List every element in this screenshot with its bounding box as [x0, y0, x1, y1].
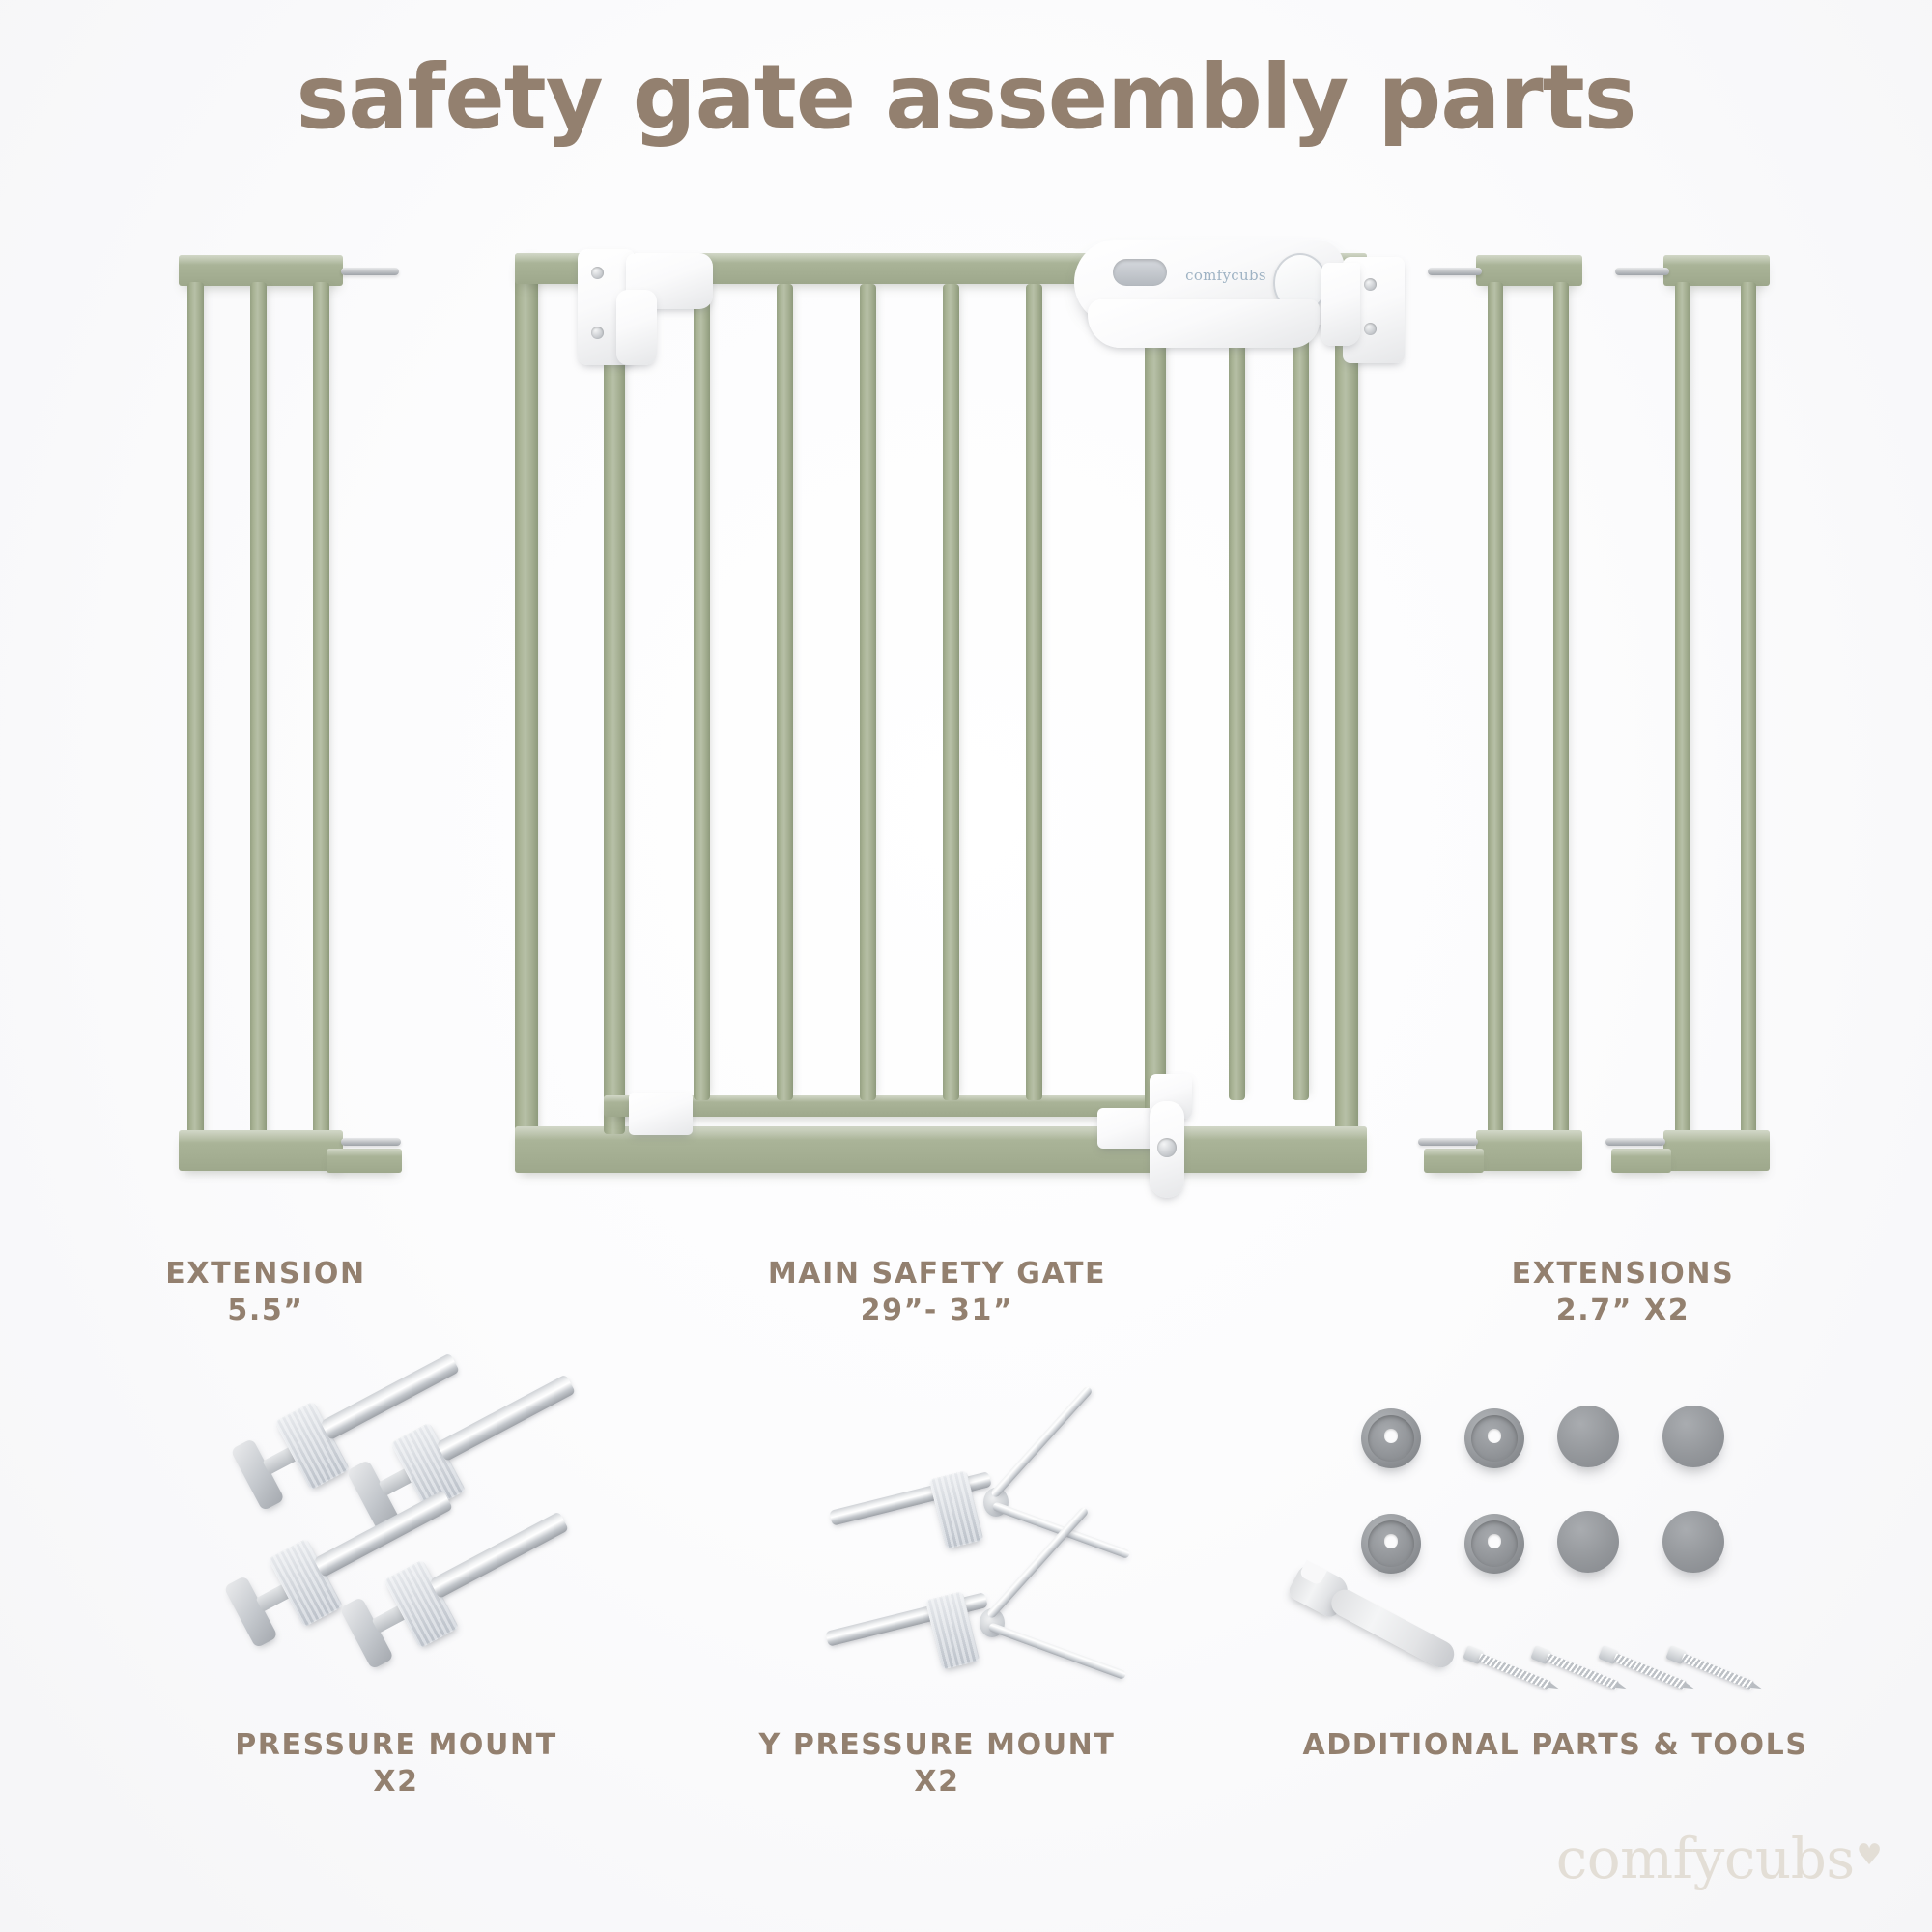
main-gate-latch-lower-lip: [1088, 299, 1320, 348]
brand-logo: comfycubs♥: [1556, 1826, 1882, 1891]
extension-right-1-bottom-rail: [1476, 1130, 1582, 1171]
heart-icon: ♥: [1857, 1838, 1882, 1872]
screw-tip: [1683, 1682, 1694, 1691]
extension-left-bar: [250, 282, 267, 1147]
extension-right-2-bar: [1741, 282, 1756, 1147]
infographic-canvas: safety gate assembly parts EXTENSION 5.5…: [0, 0, 1932, 1932]
catch-screw-icon: [1364, 278, 1377, 291]
extension-left-bottom-tab: [327, 1149, 402, 1173]
extension-right-1-bottom-tab: [1424, 1149, 1484, 1173]
extension-right-2-bottom-rail: [1663, 1130, 1770, 1171]
cup-washer: [1464, 1514, 1524, 1574]
caption-line-1: EXTENSIONS: [1381, 1256, 1864, 1293]
y-mount-prong-upper: [990, 1385, 1094, 1498]
pressure-mount-pad: [223, 1576, 278, 1649]
pressure-mount-threaded-rod: [429, 1511, 569, 1599]
main-gate-top-left-hinge-barrel: [616, 290, 657, 365]
pressure-mount-pad: [339, 1597, 394, 1670]
caption-line-1: ADDITIONAL PARTS & TOOLS: [1236, 1727, 1874, 1764]
caption-line-2: X2: [676, 1764, 1198, 1801]
extension-right-2-bar: [1675, 282, 1690, 1147]
caption-line-2: 2.7” X2: [1381, 1293, 1864, 1329]
caption-y-pressure-mount: Y PRESSURE MOUNT X2: [676, 1727, 1198, 1802]
main-gate-bottom-left-hinge: [629, 1093, 693, 1135]
caption-line-1: MAIN SAFETY GATE: [686, 1256, 1188, 1293]
extension-right-1-top-pin: [1428, 268, 1482, 275]
extension-right-2-bottom-tab: [1611, 1149, 1671, 1173]
main-gate-bar: [1026, 284, 1042, 1100]
cup-washer: [1464, 1408, 1524, 1468]
extension-right-1-bar: [1553, 282, 1569, 1147]
caption-main-gate: MAIN SAFETY GATE 29”- 31”: [686, 1256, 1188, 1330]
pivot-screw-icon: [1157, 1138, 1177, 1157]
flat-disc: [1662, 1406, 1724, 1467]
flat-disc: [1662, 1511, 1724, 1573]
main-gate-bar: [694, 284, 710, 1100]
main-gate-left-post: [515, 253, 538, 1142]
main-gate-right-post: [1335, 253, 1358, 1142]
caption-line-1: EXTENSION: [145, 1256, 386, 1293]
pressure-mount-pad: [230, 1438, 285, 1512]
y-pressure-mount-piece: [831, 1449, 1140, 1575]
flat-disc: [1557, 1511, 1619, 1573]
flat-disc: [1557, 1406, 1619, 1467]
hinge-screw-icon: [591, 327, 604, 339]
extension-right-1-bottom-pin: [1418, 1138, 1478, 1146]
main-gate-bar: [1229, 284, 1245, 1100]
caption-additional-parts: ADDITIONAL PARTS & TOOLS: [1236, 1727, 1874, 1764]
cup-washer: [1361, 1514, 1421, 1574]
screw-tip: [1750, 1682, 1762, 1691]
screw-tip: [1615, 1682, 1627, 1691]
extension-right-2-top-pin: [1615, 268, 1669, 275]
extension-right-1-bar: [1488, 282, 1503, 1147]
screw-tip: [1548, 1682, 1559, 1691]
main-gate-bar: [777, 284, 793, 1100]
y-pressure-mount-piece: [827, 1570, 1136, 1695]
main-gate-door-right-stile: [1145, 284, 1166, 1134]
caption-line-1: Y PRESSURE MOUNT: [676, 1727, 1198, 1764]
extension-left-bottom-pin: [341, 1138, 401, 1146]
caption-extension-left: EXTENSION 5.5”: [145, 1256, 386, 1330]
extension-left-bottom-rail: [179, 1130, 343, 1171]
latch-brand-label: comfycubs: [1182, 267, 1269, 284]
catch-screw-icon: [1364, 323, 1377, 335]
brand-logo-text: comfycubs: [1556, 1826, 1855, 1891]
latch-slider-button[interactable]: [1113, 259, 1167, 286]
main-gate-bar: [1293, 284, 1309, 1100]
main-gate-door-left-stile: [604, 284, 625, 1134]
caption-line-2: 29”- 31”: [686, 1293, 1188, 1329]
wrench-icon: [1284, 1555, 1468, 1684]
main-gate-bar: [943, 284, 959, 1100]
pressure-mount-threaded-rod: [436, 1374, 576, 1462]
caption-line-2: X2: [126, 1764, 667, 1801]
hinge-screw-icon: [591, 267, 604, 279]
main-gate-bar: [860, 284, 876, 1100]
page-title: safety gate assembly parts: [0, 53, 1932, 142]
wrench-handle: [1326, 1585, 1459, 1672]
caption-extensions-right: EXTENSIONS 2.7” X2: [1381, 1256, 1864, 1330]
y-mount-prong-lower: [987, 1622, 1126, 1680]
main-gate-latch-catch-tongue: [1321, 263, 1360, 346]
caption-line-2: 5.5”: [145, 1293, 386, 1329]
cup-washer: [1361, 1408, 1421, 1468]
extension-left-bar: [187, 282, 204, 1147]
extension-left-bar: [313, 282, 329, 1147]
caption-pressure-mount: PRESSURE MOUNT X2: [126, 1727, 667, 1802]
extension-right-2-bottom-pin: [1605, 1138, 1665, 1146]
caption-line-1: PRESSURE MOUNT: [126, 1727, 667, 1764]
extension-left-top-pin: [341, 268, 399, 275]
